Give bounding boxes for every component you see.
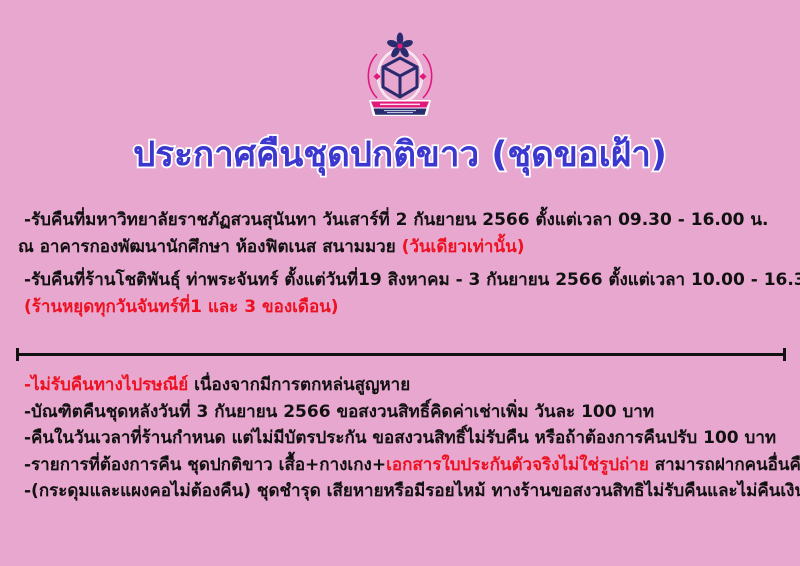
announcement-poster: ประกาศคืนชุดปกติขาว (ชุดขอเฝ้า) -รับคืนท… bbox=[0, 0, 800, 566]
divider-right-cap bbox=[783, 348, 786, 361]
bottom-line-1-highlight: -ไม่รับคืนทางไปรษณีย์ bbox=[24, 375, 188, 395]
top-line-1: -รับคืนที่มหาวิทยาลัยราชภัฏสวนสุนันทา วั… bbox=[0, 207, 800, 234]
top-text-block: -รับคืนที่มหาวิทยาลัยราชภัฏสวนสุนันทา วั… bbox=[0, 207, 800, 320]
bottom-line-2: -บัณฑิตคืนชุดหลังวันที่ 3 กันยายน 2566 ข… bbox=[0, 399, 800, 426]
top-line-2-text: ณ อาคารกองพัฒนานักศึกษา ห้องฟิตเนส สนามม… bbox=[18, 237, 402, 257]
bottom-line-3: -คืนในวันเวลาที่ร้านกำหนด แต่ไม่มีบัตรปร… bbox=[0, 425, 800, 452]
ssru-emblem-icon bbox=[357, 24, 443, 118]
section-divider bbox=[16, 348, 786, 362]
top-line-2: ณ อาคารกองพัฒนานักศึกษา ห้องฟิตเนส สนามม… bbox=[0, 234, 800, 261]
bottom-line-4-text-b: สามารถฝากคนอื่นคืนแทนได้ bbox=[649, 455, 800, 475]
top-line-3-text: -รับคืนที่ร้านโชติพันธุ์ ท่าพระจันทร์ ตั… bbox=[24, 270, 800, 290]
bottom-line-4-text-a: -รายการที่ต้องการคืน ชุดปกติขาว เสื้อ+กา… bbox=[24, 455, 386, 475]
top-line-3: -รับคืนที่ร้านโชติพันธุ์ ท่าพระจันทร์ ตั… bbox=[0, 260, 800, 294]
top-line-2-highlight: (วันเดียวเท่านั้น) bbox=[402, 237, 525, 257]
page-title: ประกาศคืนชุดปกติขาว (ชุดขอเฝ้า) bbox=[0, 133, 800, 177]
top-line-4: (ร้านหยุดทุกวันจันทร์ที่1 และ 3 ของเดือน… bbox=[0, 294, 800, 321]
top-line-1-text: -รับคืนที่มหาวิทยาลัยราชภัฏสวนสุนันทา วั… bbox=[24, 210, 769, 230]
logo-container bbox=[0, 24, 800, 120]
bottom-line-5: -(กระดุมและแผงคอไม่ต้องคืน) ชุดชำรุด เสี… bbox=[0, 478, 800, 505]
bottom-line-3-text: -คืนในวันเวลาที่ร้านกำหนด แต่ไม่มีบัตรปร… bbox=[24, 428, 776, 448]
bottom-line-1-text: เนื่องจากมีการตกหล่นสูญหาย bbox=[188, 375, 410, 395]
bottom-line-5-text: -(กระดุมและแผงคอไม่ต้องคืน) ชุดชำรุด เสี… bbox=[24, 481, 800, 501]
bottom-line-2-text: -บัณฑิตคืนชุดหลังวันที่ 3 กันยายน 2566 ข… bbox=[24, 402, 654, 422]
top-line-4-highlight: (ร้านหยุดทุกวันจันทร์ที่1 และ 3 ของเดือน… bbox=[24, 297, 339, 317]
bottom-text-block: -ไม่รับคืนทางไปรษณีย์ เนื่องจากมีการตกหล… bbox=[0, 372, 800, 505]
divider-bar bbox=[16, 353, 786, 356]
bottom-line-4-highlight: เอกสารใบประกันตัวจริงไม่ใช่รูปถ่าย bbox=[386, 455, 649, 475]
bottom-line-1: -ไม่รับคืนทางไปรษณีย์ เนื่องจากมีการตกหล… bbox=[0, 372, 800, 399]
bottom-line-4: -รายการที่ต้องการคืน ชุดปกติขาว เสื้อ+กา… bbox=[0, 452, 800, 479]
